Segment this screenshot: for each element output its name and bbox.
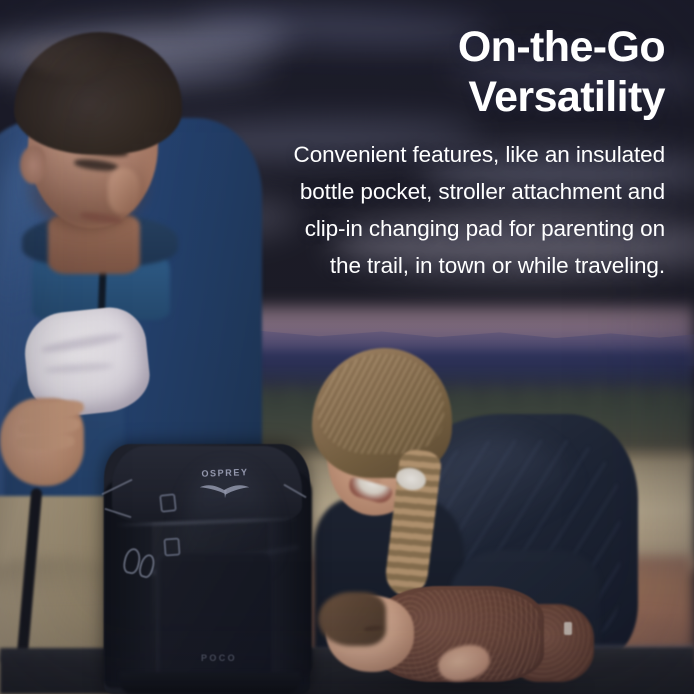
man-hair — [14, 32, 182, 154]
baby-hair — [318, 592, 386, 646]
marketing-image: OSPREY POCO On-the-Go Versatility Conven… — [0, 0, 694, 694]
man-nose — [108, 168, 140, 214]
daisy-chain-loop — [159, 493, 177, 513]
man-ear — [20, 146, 46, 184]
garment-tag — [564, 622, 572, 635]
baby-in-fleece-suit — [312, 586, 602, 694]
daisy-chain-loop — [163, 537, 180, 556]
poco-model-label: POCO — [186, 653, 252, 663]
backpack-bottom — [120, 672, 300, 694]
